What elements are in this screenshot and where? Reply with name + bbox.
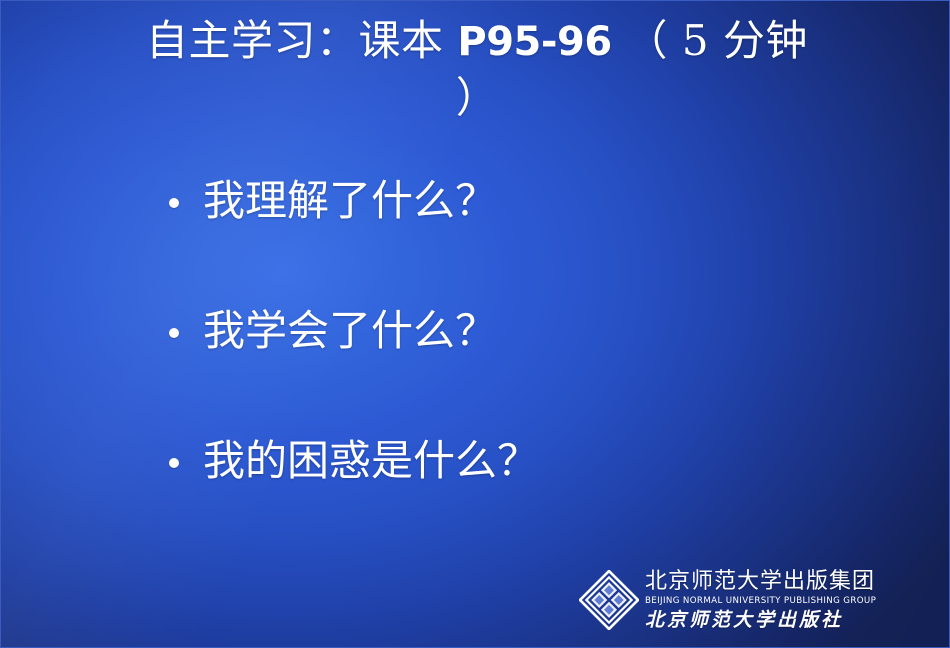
publisher-name-cn: 北京师范大学出版集团	[645, 569, 875, 595]
bullet-list: 我理解了什么？ 我学会了什么？ 我的困惑是什么？	[169, 169, 869, 559]
slide-content: 自主学习：课本 P95-96 （ 5 分钟 ） 我理解了什么？ 我学会了什么？ …	[1, 1, 949, 647]
publisher-name-en: BEIJING NORMAL UNIVERSITY PUBLISHING GRO…	[645, 595, 880, 607]
title-line-1: 自主学习：课本 P95-96 （ 5 分钟	[59, 13, 895, 70]
diamond-quad-emblem-icon	[579, 570, 639, 630]
list-item-label: 我学会了什么？	[203, 305, 497, 357]
title-suffix: （ 5 分钟	[612, 16, 808, 65]
publisher-press-cn: 北京师范大学出版社	[645, 608, 875, 632]
list-item-label: 我理解了什么？	[203, 175, 497, 227]
slide-title: 自主学习：课本 P95-96 （ 5 分钟 ）	[59, 13, 895, 126]
list-item-label: 我的困惑是什么？	[203, 435, 539, 487]
title-prefix: 自主学习：课本	[146, 16, 457, 65]
publisher-logo: 北京师范大学出版集团 BEIJING NORMAL UNIVERSITY PUB…	[579, 559, 869, 641]
list-item: 我的困惑是什么？	[169, 429, 869, 493]
presentation-slide: 自主学习：课本 P95-96 （ 5 分钟 ） 我理解了什么？ 我学会了什么？ …	[0, 0, 950, 648]
list-item: 我学会了什么？	[169, 299, 869, 363]
title-line-2: ）	[59, 70, 895, 126]
bullet-dot-icon	[169, 328, 179, 338]
bullet-dot-icon	[169, 198, 179, 208]
list-item: 我理解了什么？	[169, 169, 869, 233]
bullet-dot-icon	[169, 458, 179, 468]
publisher-logo-text: 北京师范大学出版集团 BEIJING NORMAL UNIVERSITY PUB…	[645, 569, 875, 632]
title-page-range: P95-96	[457, 19, 611, 65]
